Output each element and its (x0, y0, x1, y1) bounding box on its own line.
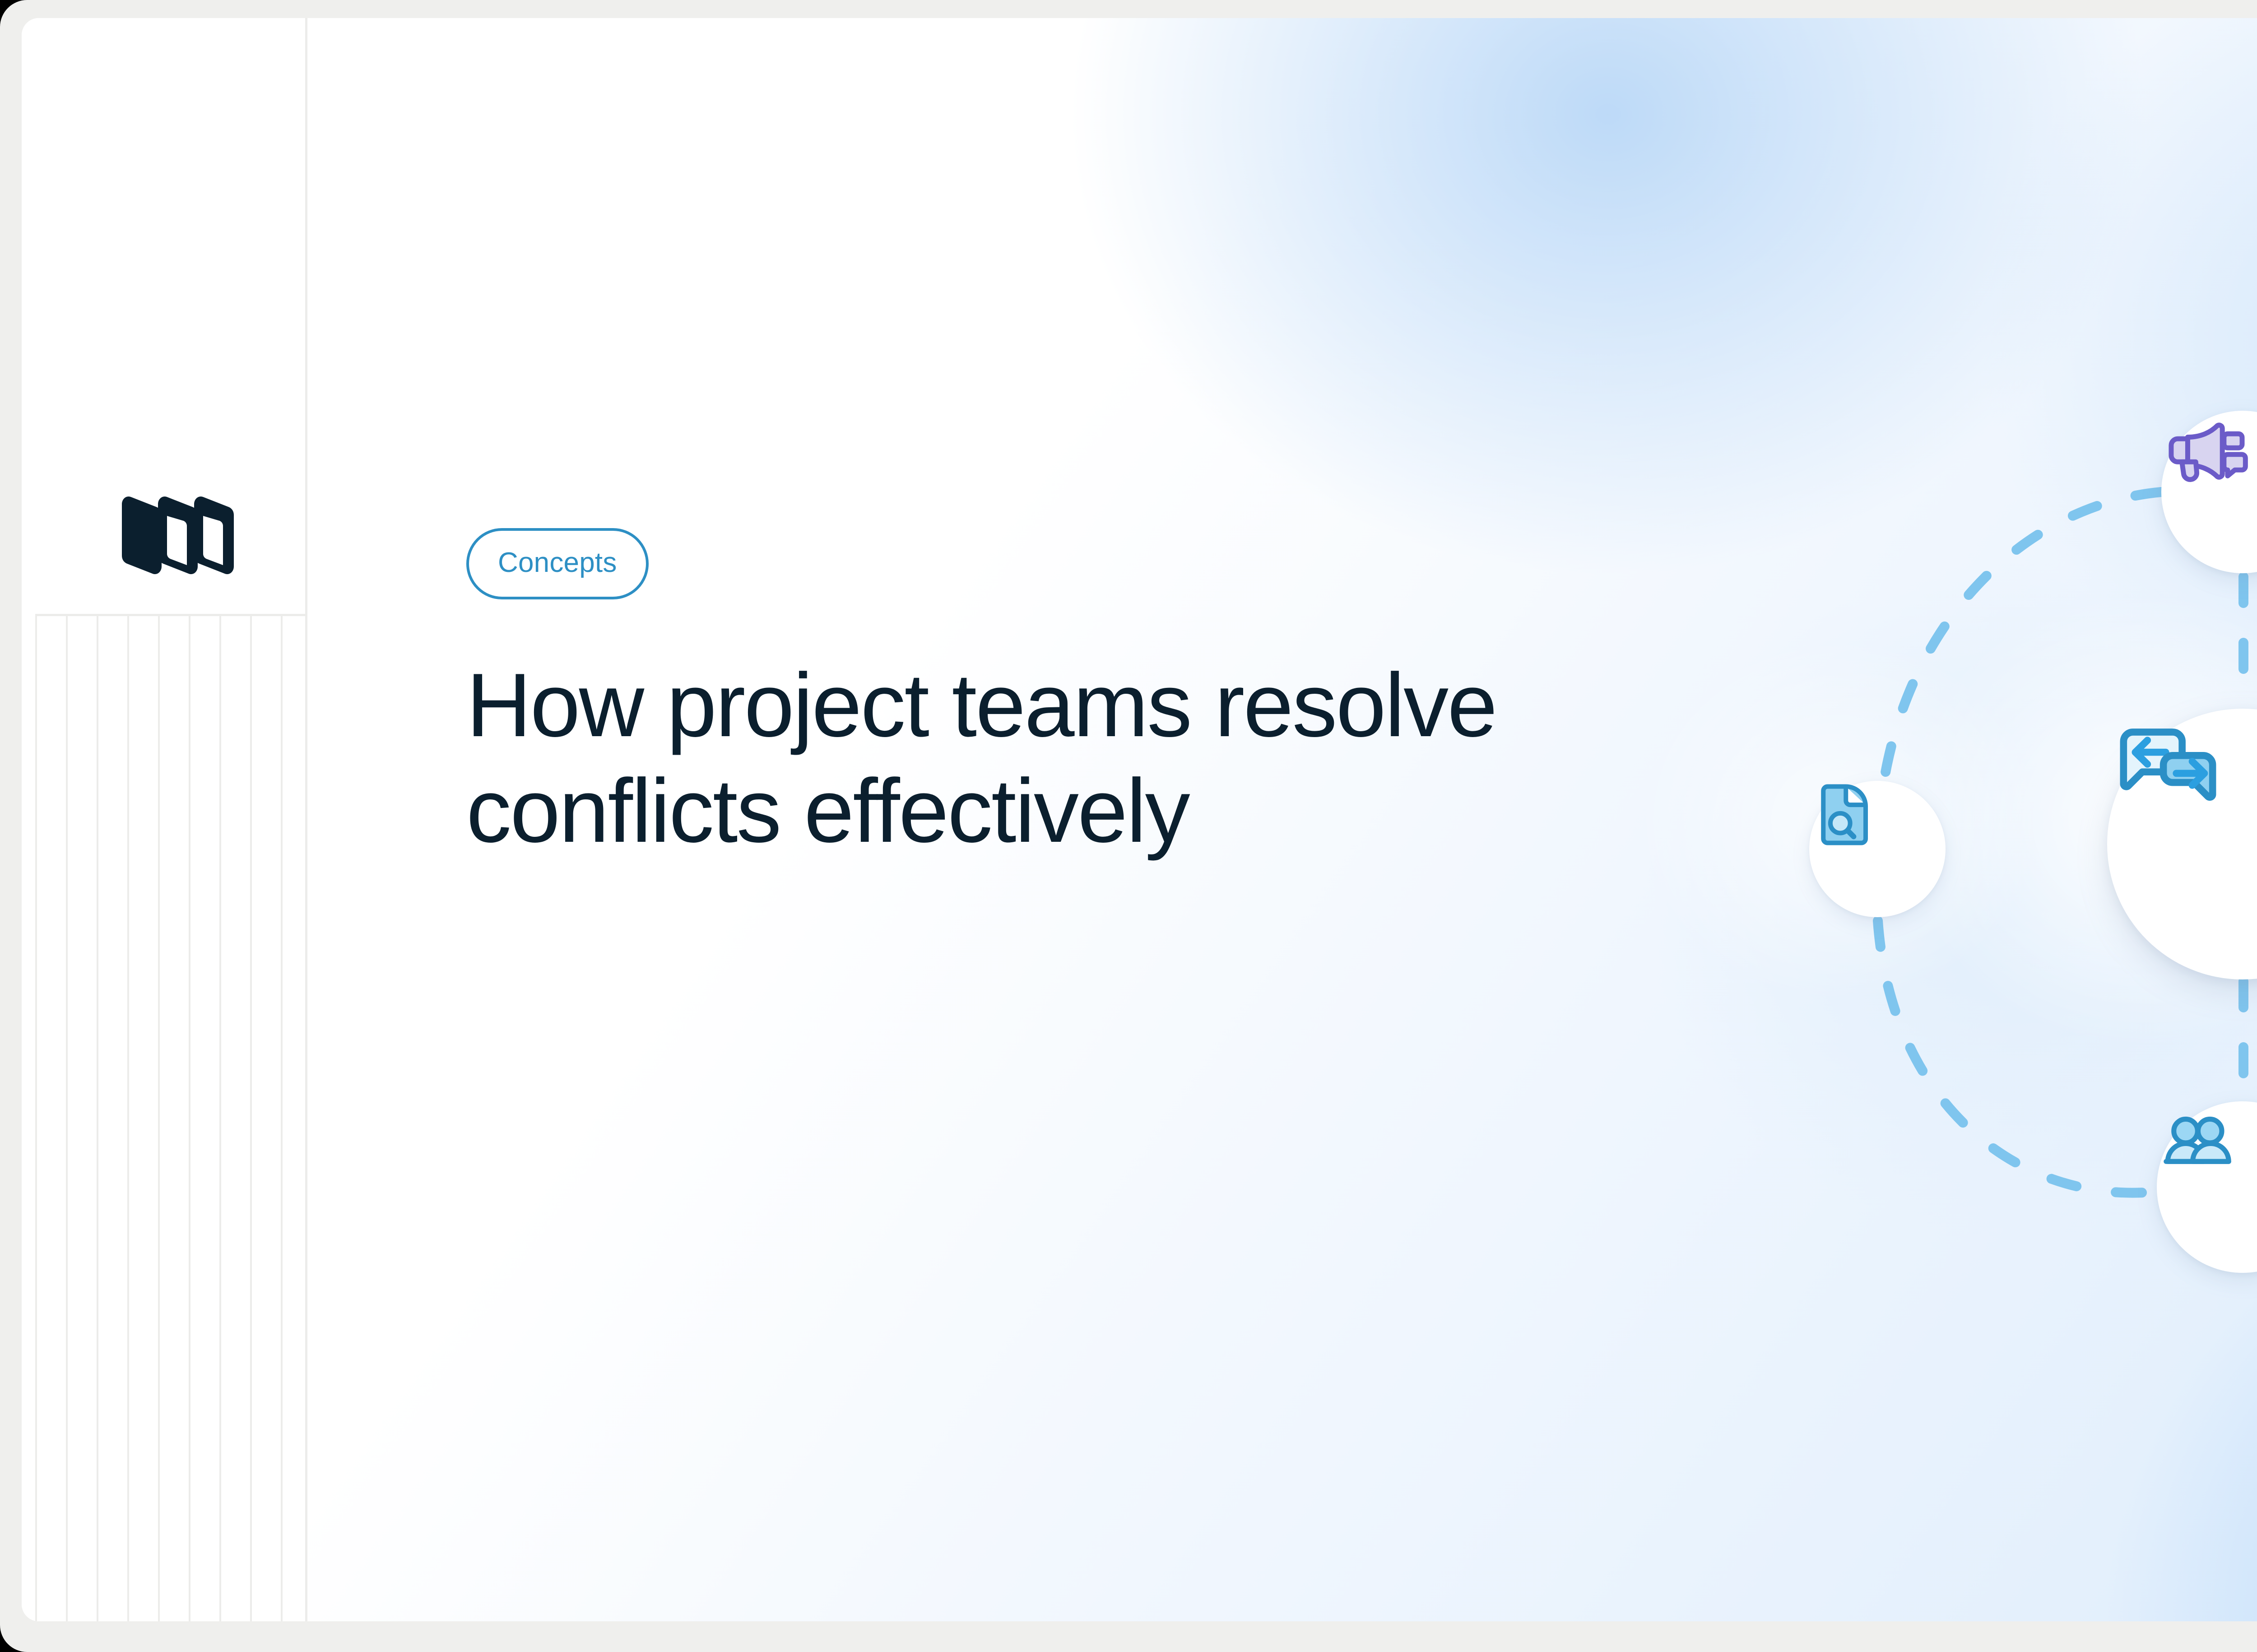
company-logo (116, 494, 243, 587)
file-search-icon (1809, 781, 1877, 849)
rail-stripe-pattern (35, 614, 305, 1621)
left-rail (22, 18, 307, 1621)
megaphone-icon (2161, 411, 2247, 497)
connector-arc-bottom (1878, 921, 2157, 1193)
node-document-search[interactable] (1809, 781, 1946, 917)
people-icon (2157, 1101, 2238, 1183)
page-title: How project teams resolve conflicts effe… (466, 653, 1640, 864)
category-badge[interactable]: Concepts (466, 528, 649, 599)
icon-cluster (1701, 334, 2257, 1372)
hero-card: Concepts How project teams resolve confl… (22, 18, 2257, 1621)
chat-exchange-icon (2107, 709, 2229, 831)
logo-icon (116, 494, 243, 587)
hero-content: Concepts How project teams resolve confl… (466, 528, 1685, 924)
outer-frame: Concepts How project teams resolve confl… (0, 0, 2257, 1652)
